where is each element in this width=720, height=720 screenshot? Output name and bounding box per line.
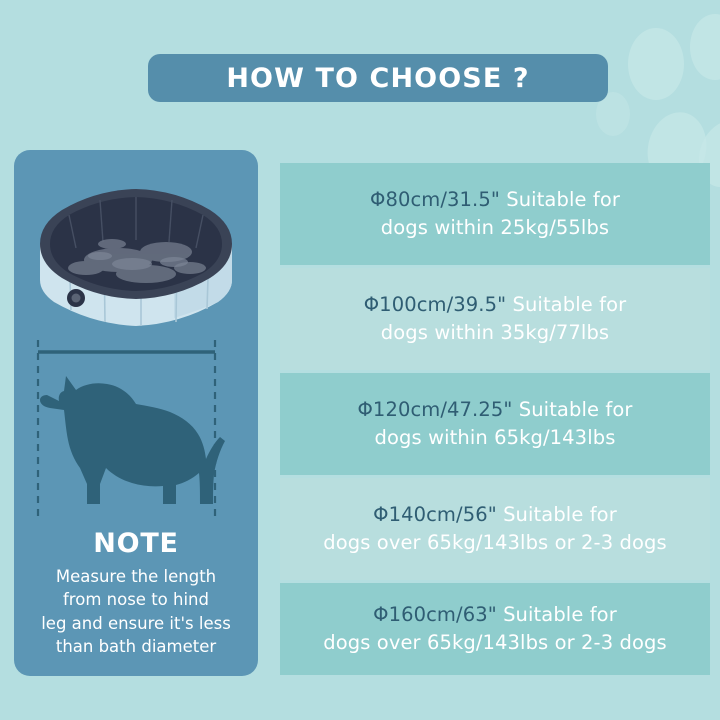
left-info-panel: NOTE Measure the length from nose to hin…: [14, 150, 258, 676]
size-suitability-detail: dogs within 35kg/77lbs: [381, 321, 609, 344]
page-title: HOW TO CHOOSE ?: [226, 63, 529, 94]
size-suitability-lead: Suitable for: [497, 503, 617, 526]
header-banner: HOW TO CHOOSE ?: [148, 54, 608, 102]
note-title: NOTE: [22, 528, 250, 559]
note-line: Measure the length: [22, 565, 250, 588]
size-dimension: Φ140cm/56": [373, 503, 497, 526]
size-option-row[interactable]: Φ160cm/63" Suitable for dogs over 65kg/1…: [280, 583, 710, 675]
pet-pool-image: [14, 152, 258, 338]
size-suitability-detail: dogs over 65kg/143lbs or 2-3 dogs: [323, 531, 667, 554]
size-option-text: Φ120cm/47.25" Suitable for dogs within 6…: [357, 396, 632, 453]
note-line: than bath diameter: [22, 635, 250, 658]
size-suitability-lead: Suitable for: [512, 398, 632, 421]
size-suitability-lead: Suitable for: [500, 188, 620, 211]
size-suitability-lead: Suitable for: [497, 603, 617, 626]
note-line: leg and ensure it's less: [22, 612, 250, 635]
size-option-text: Φ100cm/39.5" Suitable for dogs within 35…: [364, 291, 627, 348]
size-dimension: Φ100cm/39.5": [364, 293, 506, 316]
size-option-row[interactable]: Φ80cm/31.5" Suitable for dogs within 25k…: [280, 163, 710, 265]
size-suitability-detail: dogs within 65kg/143lbs: [375, 426, 616, 449]
size-suitability-detail: dogs within 25kg/55lbs: [381, 216, 609, 239]
dog-measurement-diagram: [14, 338, 258, 520]
note-block: NOTE Measure the length from nose to hin…: [14, 528, 258, 659]
size-option-row[interactable]: Φ120cm/47.25" Suitable for dogs within 6…: [280, 373, 710, 475]
size-dimension: Φ80cm/31.5": [370, 188, 500, 211]
size-option-text: Φ140cm/56" Suitable for dogs over 65kg/1…: [323, 501, 667, 558]
paw-blob-icon: [628, 28, 684, 100]
size-option-text: Φ160cm/63" Suitable for dogs over 65kg/1…: [323, 601, 667, 658]
paw-blob-icon: [690, 14, 720, 80]
note-line: from nose to hind: [22, 588, 250, 611]
size-option-row[interactable]: Φ140cm/56" Suitable for dogs over 65kg/1…: [280, 478, 710, 580]
size-option-text: Φ80cm/31.5" Suitable for dogs within 25k…: [370, 186, 620, 243]
size-dimension: Φ160cm/63": [373, 603, 497, 626]
size-suitability-lead: Suitable for: [506, 293, 626, 316]
size-option-row[interactable]: Φ100cm/39.5" Suitable for dogs within 35…: [280, 268, 710, 370]
size-options-list: Φ80cm/31.5" Suitable for dogs within 25k…: [280, 163, 710, 675]
size-dimension: Φ120cm/47.25": [357, 398, 512, 421]
note-body: Measure the length from nose to hind leg…: [22, 565, 250, 659]
size-suitability-detail: dogs over 65kg/143lbs or 2-3 dogs: [323, 631, 667, 654]
infographic-canvas: HOW TO CHOOSE ?: [0, 0, 720, 720]
